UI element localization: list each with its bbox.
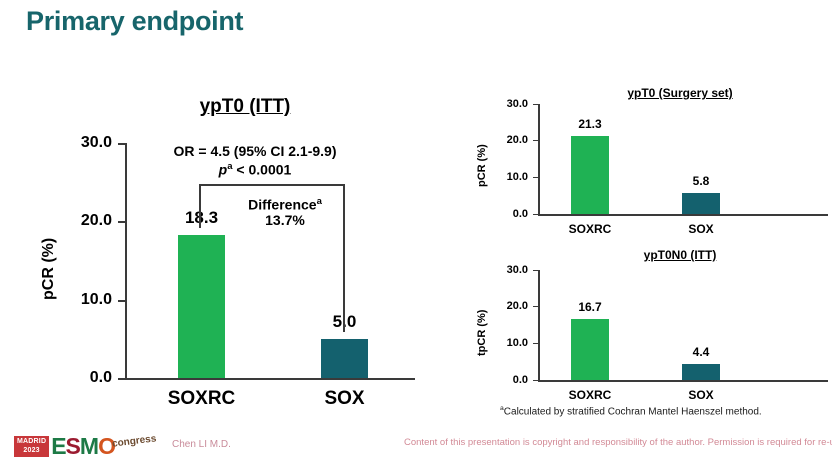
- chart-itt-ticklabel-30: 30.0: [488, 264, 528, 276]
- chart-surgery-tick-10: [533, 177, 538, 178]
- footnote: aCalculated by stratified Cochran Mantel…: [500, 405, 762, 417]
- chart-main-tick-20: [118, 221, 126, 223]
- chart-itt-tick-0: [533, 380, 538, 381]
- chart-itt-ticklabel-20: 20.0: [488, 300, 528, 312]
- chart-itt-title: ypT0N0 (ITT): [560, 248, 800, 262]
- presenter-name: Chen LI M.D.: [172, 439, 231, 450]
- chart-itt-ticklabel-10: 10.0: [488, 337, 528, 349]
- pvalue-italic-p: p: [219, 162, 228, 178]
- chart-itt-catlabel-soxrc: SOXRC: [555, 388, 625, 402]
- chart-main-bar-soxrc: [178, 235, 225, 378]
- logo-year: 2023: [17, 447, 46, 456]
- chart-itt-x-axis: [538, 380, 828, 382]
- chart-surgery-x-axis: [538, 214, 828, 216]
- chart-itt-tick-10: [533, 343, 538, 344]
- slide-footer: MADRID 2023 ESMO congress Chen LI M.D. C…: [0, 428, 832, 468]
- esmo-letter-e: E: [51, 433, 65, 459]
- logo-city: MADRID: [17, 438, 46, 447]
- difference-value: 13.7%: [225, 212, 345, 228]
- chart-itt-barvalue-sox: 4.4: [671, 345, 731, 359]
- chart-surgery-barvalue-soxrc: 21.3: [560, 117, 620, 131]
- chart-itt-bar-sox: [682, 364, 720, 380]
- difference-superscript: a: [317, 196, 322, 207]
- chart-main-y-axis-title: pCR (%): [40, 238, 58, 300]
- chart-itt-catlabel-sox: SOX: [666, 388, 736, 402]
- chart-itt-tick-30: [533, 270, 538, 271]
- slide-canvas: Primary endpoint ypT0 (ITT) 30.0 20.0 10…: [0, 0, 832, 468]
- chart-main-catlabel-soxrc: SOXRC: [150, 388, 253, 410]
- esmo-letter-s: S: [66, 433, 80, 459]
- chart-ypt0n0-itt: ypT0N0 (ITT) 30.0 20.0 10.0 0.0 tpCR (%)…: [460, 248, 832, 408]
- chart-ypt0-surgery-set: ypT0 (Surgery set) 30.0 20.0 10.0 0.0 pC…: [460, 82, 832, 242]
- chart-surgery-bar-sox: [682, 193, 720, 214]
- esmo-wordmark: ESMO: [51, 435, 115, 457]
- chart-main-tick-30: [118, 143, 126, 145]
- chart-main-pvalue-annotation: pa < 0.0001: [140, 161, 370, 178]
- chart-surgery-tick-0: [533, 214, 538, 215]
- chart-surgery-tick-20: [533, 140, 538, 141]
- chart-itt-bar-soxrc: [571, 319, 609, 380]
- chart-surgery-tick-30: [533, 104, 538, 105]
- chart-main-x-axis: [125, 378, 415, 380]
- chart-main-ticklabel-20: 20.0: [56, 212, 112, 230]
- chart-main-ticklabel-0: 0.0: [56, 369, 112, 387]
- chart-itt-y-axis-title: tpCR (%): [476, 310, 488, 356]
- chart-surgery-ticklabel-20: 20.0: [488, 134, 528, 146]
- chart-itt-tick-20: [533, 306, 538, 307]
- chart-surgery-title: ypT0 (Surgery set): [560, 86, 800, 100]
- comparison-bracket-left: [199, 184, 201, 228]
- esmo-letter-m: M: [80, 433, 98, 459]
- chart-surgery-y-axis-title: pCR (%): [476, 144, 488, 187]
- esmo-congress-logo: MADRID 2023 ESMO congress: [14, 431, 156, 457]
- chart-main-tick-0: [118, 378, 126, 380]
- footnote-text: Calculated by stratified Cochran Mantel …: [504, 406, 762, 417]
- chart-surgery-ticklabel-10: 10.0: [488, 171, 528, 183]
- chart-surgery-y-axis: [538, 104, 540, 214]
- chart-main-or-annotation: OR = 4.5 (95% CI 2.1-9.9): [140, 143, 370, 159]
- difference-label-text: Difference: [248, 197, 316, 213]
- madrid-2023-badge: MADRID 2023: [14, 436, 49, 457]
- chart-surgery-ticklabel-0: 0.0: [488, 208, 528, 220]
- chart-main-catlabel-sox: SOX: [293, 388, 396, 410]
- copyright-notice: Content of this presentation is copyrigh…: [404, 437, 832, 448]
- chart-itt-barvalue-soxrc: 16.7: [560, 300, 620, 314]
- chart-main-title: ypT0 (ITT): [120, 96, 370, 118]
- chart-main-ticklabel-10: 10.0: [56, 291, 112, 309]
- chart-surgery-ticklabel-30: 30.0: [488, 98, 528, 110]
- chart-itt-ticklabel-0: 0.0: [488, 374, 528, 386]
- chart-surgery-catlabel-sox: SOX: [666, 222, 736, 236]
- chart-surgery-barvalue-sox: 5.8: [671, 174, 731, 188]
- chart-main-y-axis: [125, 143, 127, 379]
- difference-label: Differencea: [225, 196, 345, 213]
- congress-wordmark: congress: [111, 433, 156, 449]
- chart-main-ticklabel-30: 30.0: [56, 134, 112, 152]
- comparison-bracket-top: [199, 184, 345, 186]
- chart-itt-y-axis: [538, 270, 540, 380]
- chart-main-tick-10: [118, 300, 126, 302]
- chart-surgery-catlabel-soxrc: SOXRC: [555, 222, 625, 236]
- chart-surgery-bar-soxrc: [571, 136, 609, 214]
- chart-main-ypt0-itt: ypT0 (ITT) 30.0 20.0 10.0 0.0 pCR (%) 18…: [0, 0, 440, 420]
- chart-main-bar-sox: [321, 339, 368, 378]
- pvalue-rest: < 0.0001: [233, 162, 292, 178]
